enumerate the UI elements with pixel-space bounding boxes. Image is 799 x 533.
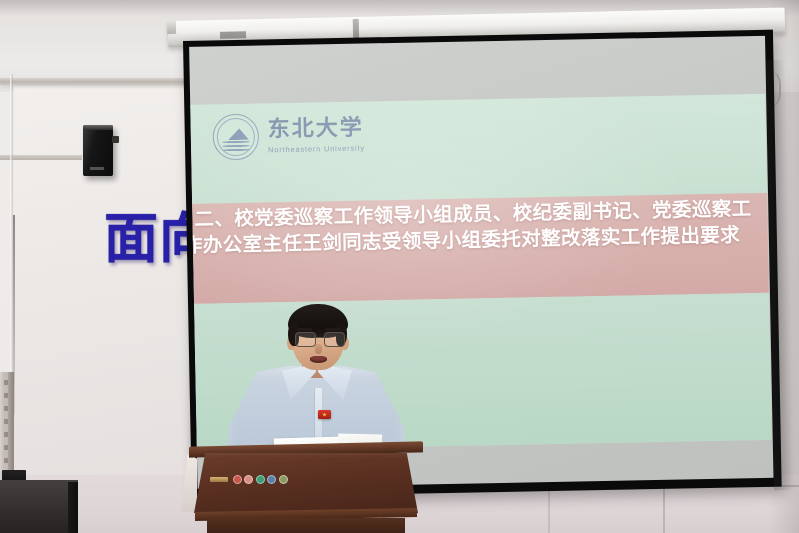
speaker-top-trim — [83, 125, 113, 130]
university-name-en: Northeastern University — [268, 143, 365, 154]
slide-heading: 二、校党委巡察工作领导小组成员、校纪委副书记、党委巡察工 作办公室主任王剑同志受… — [194, 196, 772, 259]
floor-cabinet-side — [68, 482, 78, 533]
university-logo-text: 东北大学 Northeastern University — [268, 117, 365, 154]
university-logo: 东北大学 Northeastern University — [212, 112, 365, 161]
glasses-bridge — [314, 337, 324, 338]
control-dot-red[interactable] — [233, 475, 242, 484]
podium-control-panel[interactable] — [210, 475, 288, 484]
housing-endcap — [167, 20, 176, 34]
glasses-lens-right — [324, 332, 345, 347]
person-mouth — [310, 356, 327, 363]
control-dot-green[interactable] — [256, 475, 265, 484]
whiteboard-edge-stripe — [4, 372, 8, 484]
floor-seam-vertical-left — [548, 489, 550, 533]
person-eyebrow-left — [296, 328, 312, 331]
podium-name-strip — [210, 477, 228, 482]
seal-waves-shape — [222, 141, 250, 152]
speaker-brand-mark — [90, 167, 104, 170]
control-dot-blue[interactable] — [267, 475, 276, 484]
podium-front-panel — [194, 453, 418, 513]
seal-mountain-shape — [223, 127, 249, 140]
university-name-cn: 东北大学 — [268, 117, 365, 141]
podium-base — [207, 518, 405, 533]
control-dot-pink[interactable] — [244, 475, 253, 484]
lectern-podium — [189, 444, 423, 533]
person-nose — [315, 344, 322, 354]
university-seal-icon — [212, 114, 259, 161]
wall-speaker-icon — [83, 125, 113, 176]
housing-brand-label — [220, 31, 246, 39]
floor-cabinet — [0, 480, 78, 533]
glasses-lens-left — [295, 332, 316, 347]
control-dot-olive[interactable] — [279, 475, 288, 484]
person-eyebrow-right — [325, 328, 341, 331]
wall-rail-upper — [0, 78, 200, 85]
party-emblem-badge-icon — [318, 410, 331, 419]
floor-seam-vertical-right — [663, 487, 665, 533]
speaker-mount-bracket — [112, 136, 119, 143]
speaker-person — [222, 304, 412, 464]
presentation-photo: 面向 — [0, 0, 799, 533]
